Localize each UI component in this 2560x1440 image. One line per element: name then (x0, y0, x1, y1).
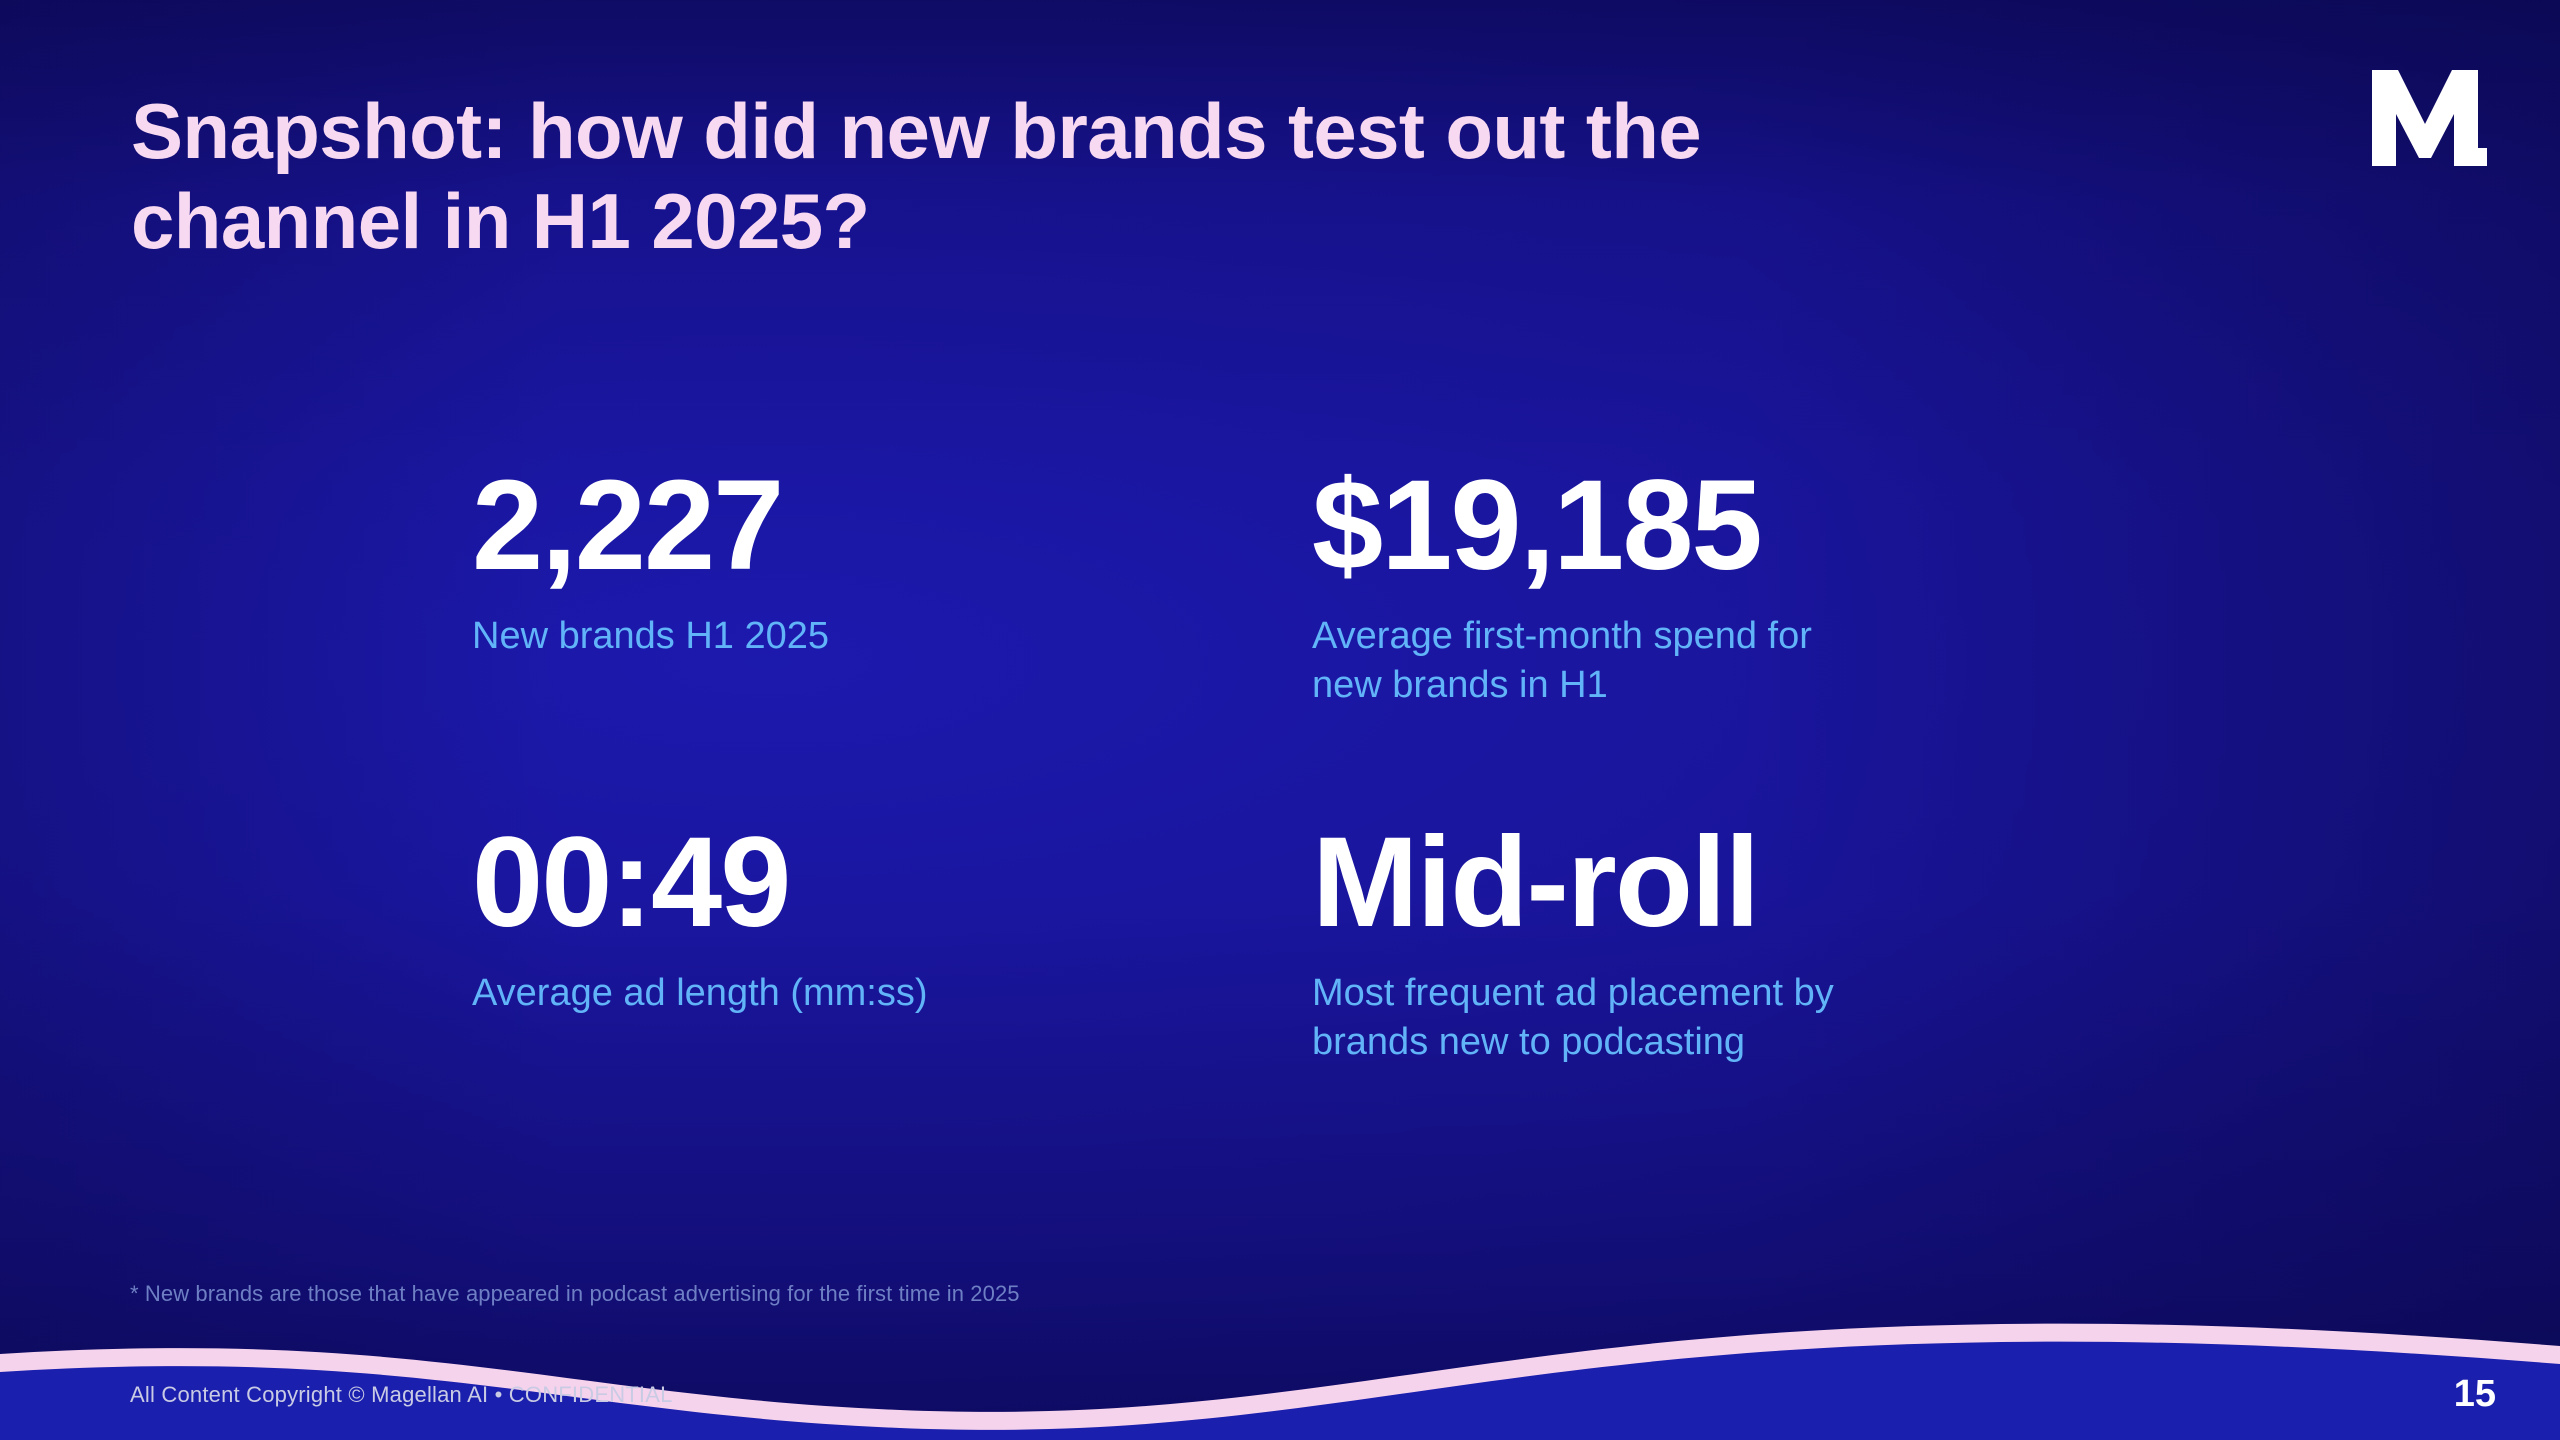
stat-card-ad-placement: Mid-roll Most frequent ad placement by b… (1312, 819, 2272, 1068)
stat-label: New brands H1 2025 (472, 612, 1212, 661)
stat-label: Average first-month spend for new brands… (1312, 612, 2052, 711)
slide-content: Snapshot: how did new brands test out th… (0, 0, 2560, 1440)
stats-grid: 2,227 New brands H1 2025 $19,185 Average… (472, 462, 2272, 1068)
stat-value: 00:49 (472, 819, 1312, 947)
copyright-footer: All Content Copyright © Magellan AI • CO… (130, 1382, 673, 1408)
stat-value: Mid-roll (1312, 819, 2272, 947)
page-number: 15 (2454, 1373, 2496, 1416)
wave-decoration (0, 1310, 2560, 1440)
stat-card-first-month-spend: $19,185 Average first-month spend for ne… (1312, 462, 2272, 711)
stat-card-average-ad-length: 00:49 Average ad length (mm:ss) (472, 819, 1312, 1068)
stat-value: $19,185 (1312, 462, 2272, 590)
stat-label: Most frequent ad placement by brands new… (1312, 969, 2052, 1068)
footnote-text: * New brands are those that have appeare… (130, 1281, 1020, 1307)
page-title: Snapshot: how did new brands test out th… (131, 86, 2251, 267)
stat-label: Average ad length (mm:ss) (472, 969, 1212, 1018)
stat-card-new-brands: 2,227 New brands H1 2025 (472, 462, 1312, 711)
slide-canvas: Snapshot: how did new brands test out th… (0, 0, 2560, 1440)
stat-value: 2,227 (472, 462, 1312, 590)
magellan-logo-icon (2368, 62, 2498, 174)
